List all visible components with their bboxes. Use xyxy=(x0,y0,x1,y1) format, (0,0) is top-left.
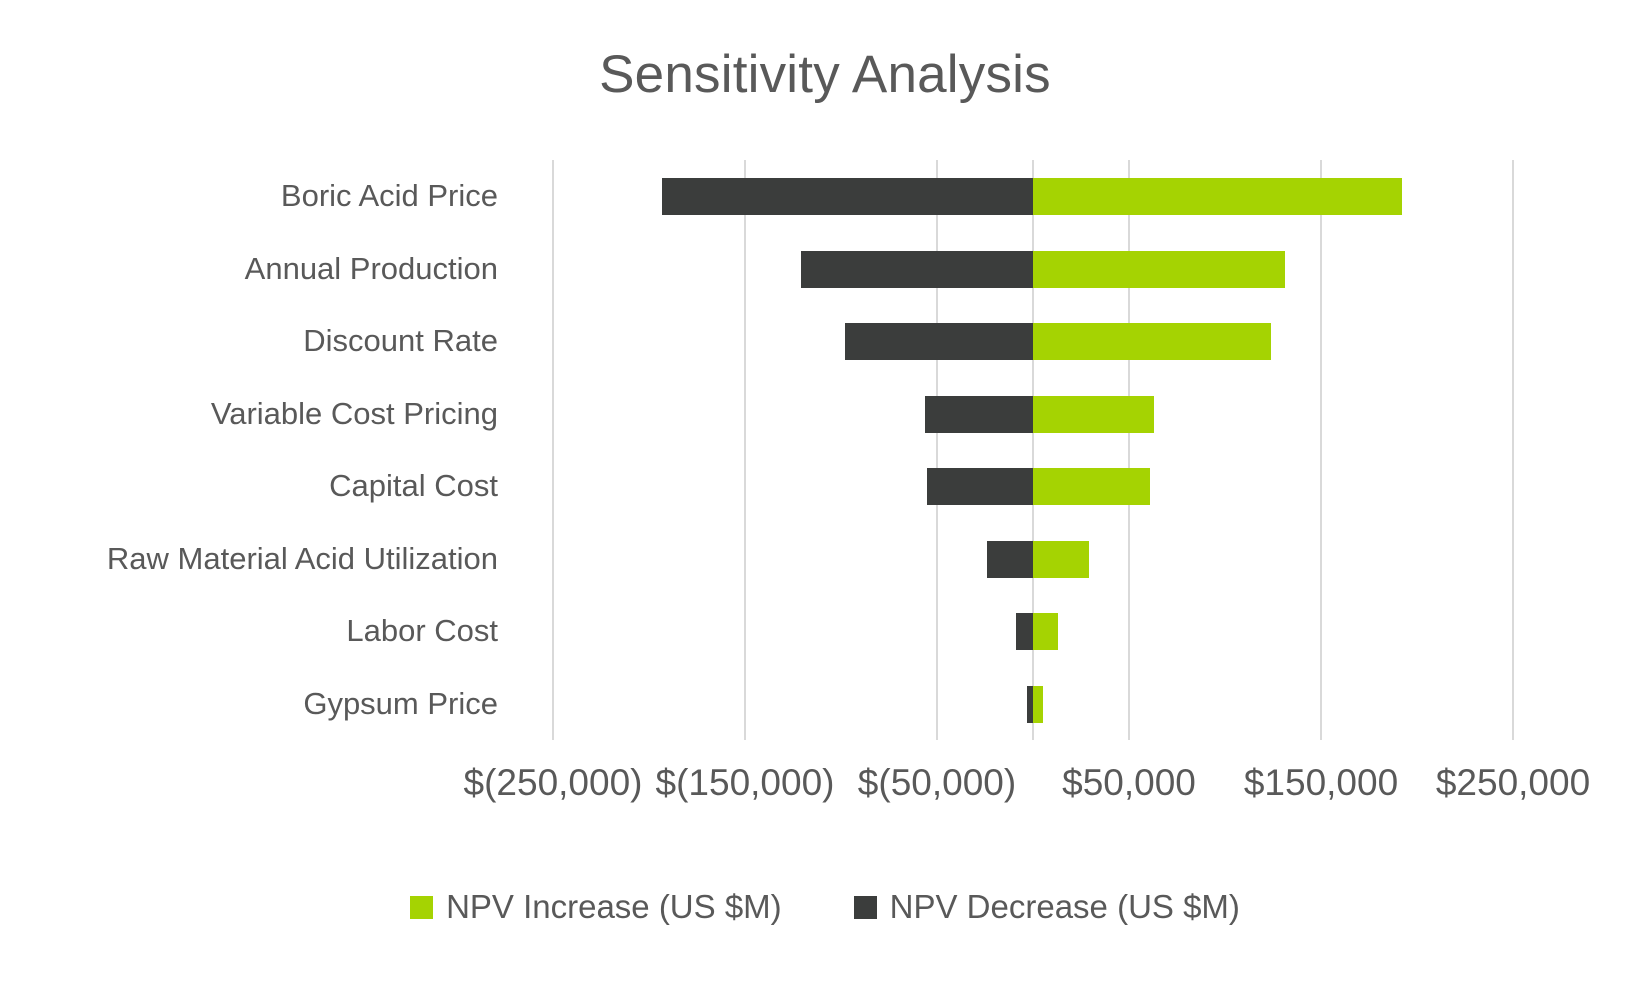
category-label: Gypsum Price xyxy=(0,668,498,741)
chart-category-row: Annual Production xyxy=(0,233,1650,306)
legend-swatch-icon xyxy=(410,896,433,919)
chart-category-row: Gypsum Price xyxy=(0,668,1650,741)
bar-npv-decrease xyxy=(845,323,1033,360)
bar-npv-increase xyxy=(1033,541,1089,578)
legend-swatch-icon xyxy=(854,896,877,919)
bar-npv-increase xyxy=(1033,613,1058,650)
bar-npv-decrease xyxy=(1016,613,1033,650)
x-axis-tick-labels: $(250,000)$(150,000)$(50,000)$50,000$150… xyxy=(0,762,1650,822)
bar-npv-decrease xyxy=(662,178,1033,215)
chart-category-row: Boric Acid Price xyxy=(0,160,1650,233)
bar-npv-increase xyxy=(1033,178,1402,215)
category-rows: Boric Acid PriceAnnual ProductionDiscoun… xyxy=(0,160,1650,740)
bar-npv-increase xyxy=(1033,251,1285,288)
bar-npv-decrease xyxy=(925,396,1033,433)
bar-npv-increase xyxy=(1033,686,1043,723)
bar-npv-decrease xyxy=(927,468,1033,505)
chart-category-row: Capital Cost xyxy=(0,450,1650,523)
category-label: Annual Production xyxy=(0,233,498,306)
chart-category-row: Variable Cost Pricing xyxy=(0,378,1650,451)
bar-npv-increase xyxy=(1033,468,1150,505)
chart-title: Sensitivity Analysis xyxy=(0,44,1650,105)
sensitivity-analysis-chart: Sensitivity Analysis Boric Acid PriceAnn… xyxy=(0,0,1650,990)
category-label: Raw Material Acid Utilization xyxy=(0,523,498,596)
chart-category-row: Discount Rate xyxy=(0,305,1650,378)
bar-npv-increase xyxy=(1033,323,1271,360)
category-label: Variable Cost Pricing xyxy=(0,378,498,451)
chart-legend: NPV Increase (US $M)NPV Decrease (US $M) xyxy=(0,888,1650,926)
chart-category-row: Labor Cost xyxy=(0,595,1650,668)
chart-category-row: Raw Material Acid Utilization xyxy=(0,523,1650,596)
legend-item[interactable]: NPV Increase (US $M) xyxy=(410,888,782,926)
x-axis-tick-label: $(50,000) xyxy=(858,762,1016,804)
legend-label: NPV Decrease (US $M) xyxy=(890,888,1240,926)
category-label: Discount Rate xyxy=(0,305,498,378)
category-label: Labor Cost xyxy=(0,595,498,668)
category-label: Capital Cost xyxy=(0,450,498,523)
x-axis-tick-label: $(250,000) xyxy=(464,762,643,804)
plot-area: Boric Acid PriceAnnual ProductionDiscoun… xyxy=(0,160,1650,740)
bar-npv-decrease xyxy=(801,251,1033,288)
legend-label: NPV Increase (US $M) xyxy=(446,888,782,926)
category-label: Boric Acid Price xyxy=(0,160,498,233)
bar-npv-decrease xyxy=(987,541,1033,578)
x-axis-tick-label: $50,000 xyxy=(1062,762,1196,804)
legend-item[interactable]: NPV Decrease (US $M) xyxy=(854,888,1240,926)
x-axis-tick-label: $150,000 xyxy=(1244,762,1398,804)
x-axis-tick-label: $(150,000) xyxy=(656,762,835,804)
bar-npv-increase xyxy=(1033,396,1154,433)
x-axis-tick-label: $250,000 xyxy=(1436,762,1590,804)
